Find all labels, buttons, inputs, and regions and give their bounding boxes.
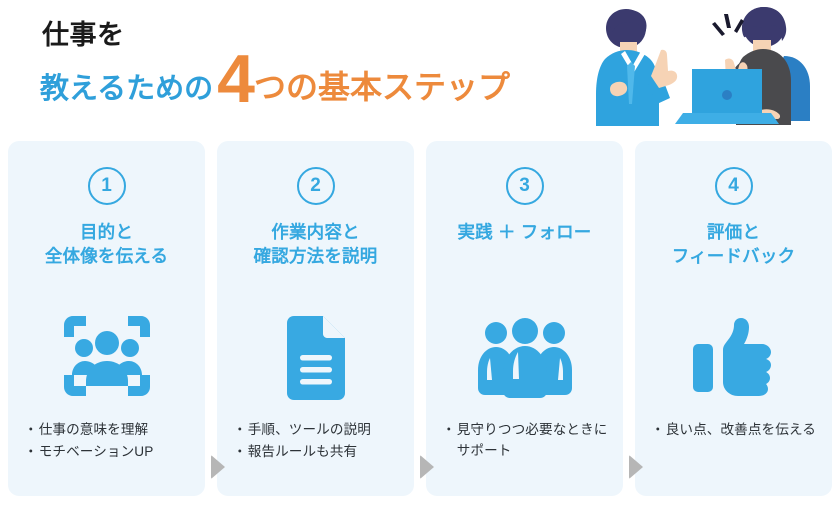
step-bullets-1: ・ 仕事の意味を理解 ・ モチベーションUP [24, 419, 195, 463]
page-title: 仕事を 教えるための 4 つの基本ステップ [40, 22, 560, 104]
step-bullets-3: ・ 見守りつつ必要なときにサポート [442, 419, 613, 462]
list-item: ・ モチベーションUP [24, 441, 195, 462]
step-title-1: 目的と 全体像を伝える [8, 221, 205, 268]
list-item: ・ 良い点、改善点を伝える [651, 419, 822, 440]
document-icon [217, 308, 414, 408]
step-title-3: 実践 ＋ フォロー [426, 221, 623, 245]
step-title-line-1: 評価と [635, 221, 832, 245]
step-title-line-2: 全体像を伝える [8, 245, 205, 269]
infographic-page: 仕事を 教えるための 4 つの基本ステップ [0, 0, 840, 520]
title-number: 4 [217, 55, 253, 104]
title-orange-text: つの基本ステップ [254, 71, 510, 104]
bullet-text: 良い点、改善点を伝える [666, 419, 822, 440]
step-number-badge-1: 1 [88, 167, 126, 205]
step-card-1[interactable]: 1 目的と 全体像を伝える [8, 141, 205, 496]
list-item: ・ 仕事の意味を理解 [24, 419, 195, 440]
bullet-text: 手順、ツールの説明 [248, 419, 404, 440]
list-item: ・ 手順、ツールの説明 [233, 419, 404, 440]
step-title-2: 作業内容と 確認方法を説明 [217, 221, 414, 268]
step-number-badge-3: 3 [506, 167, 544, 205]
bullet-marker: ・ [24, 419, 38, 440]
list-item: ・ 報告ルールも共有 [233, 441, 404, 462]
step-number-badge-2: 2 [297, 167, 335, 205]
step-number-badge-4: 4 [715, 167, 753, 205]
bullet-marker: ・ [233, 419, 247, 440]
bullet-text: 仕事の意味を理解 [39, 419, 195, 440]
step-bullets-2: ・ 手順、ツールの説明 ・ 報告ルールも共有 [233, 419, 404, 463]
step-title-line-1: 目的と [8, 221, 205, 245]
three-people-icon [426, 308, 623, 408]
group-focus-icon [8, 308, 205, 408]
step-card-3[interactable]: 3 実践 ＋ フォロー [426, 141, 623, 496]
bullet-marker: ・ [651, 419, 665, 440]
step-title-4: 評価と フィードバック [635, 221, 832, 268]
title-blue-text: 教えるための [40, 75, 213, 104]
step-card-4[interactable]: 4 評価と フィードバック ・ 良い点、改善点を伝える [635, 141, 832, 496]
title-line-1: 仕事を [42, 22, 560, 49]
step-card-2[interactable]: 2 作業内容と 確認方法を説明 ・ 手順、ツールの説明 [217, 141, 414, 496]
header: 仕事を 教えるための 4 つの基本ステップ [0, 0, 840, 132]
step-title-line-2: 確認方法を説明 [217, 245, 414, 269]
bullet-marker: ・ [24, 441, 38, 462]
bullet-marker: ・ [233, 441, 247, 462]
step-title-line-2: フィードバック [635, 245, 832, 269]
step-bullets-4: ・ 良い点、改善点を伝える [651, 419, 822, 441]
bullet-text: 報告ルールも共有 [248, 441, 404, 462]
bullet-text: モチベーションUP [39, 441, 195, 462]
step-title-line-1: 実践 ＋ フォロー [426, 221, 623, 245]
bullet-marker: ・ [442, 419, 456, 461]
list-item: ・ 見守りつつ必要なときにサポート [442, 419, 613, 461]
title-line-2: 教えるための 4 つの基本ステップ [40, 55, 560, 104]
bullet-text: 見守りつつ必要なときにサポート [457, 419, 613, 461]
thumbs-up-icon [635, 308, 832, 408]
step-title-line-1: 作業内容と [217, 221, 414, 245]
steps-row: 1 目的と 全体像を伝える [8, 141, 832, 496]
two-people-meeting-illustration [565, 4, 835, 126]
